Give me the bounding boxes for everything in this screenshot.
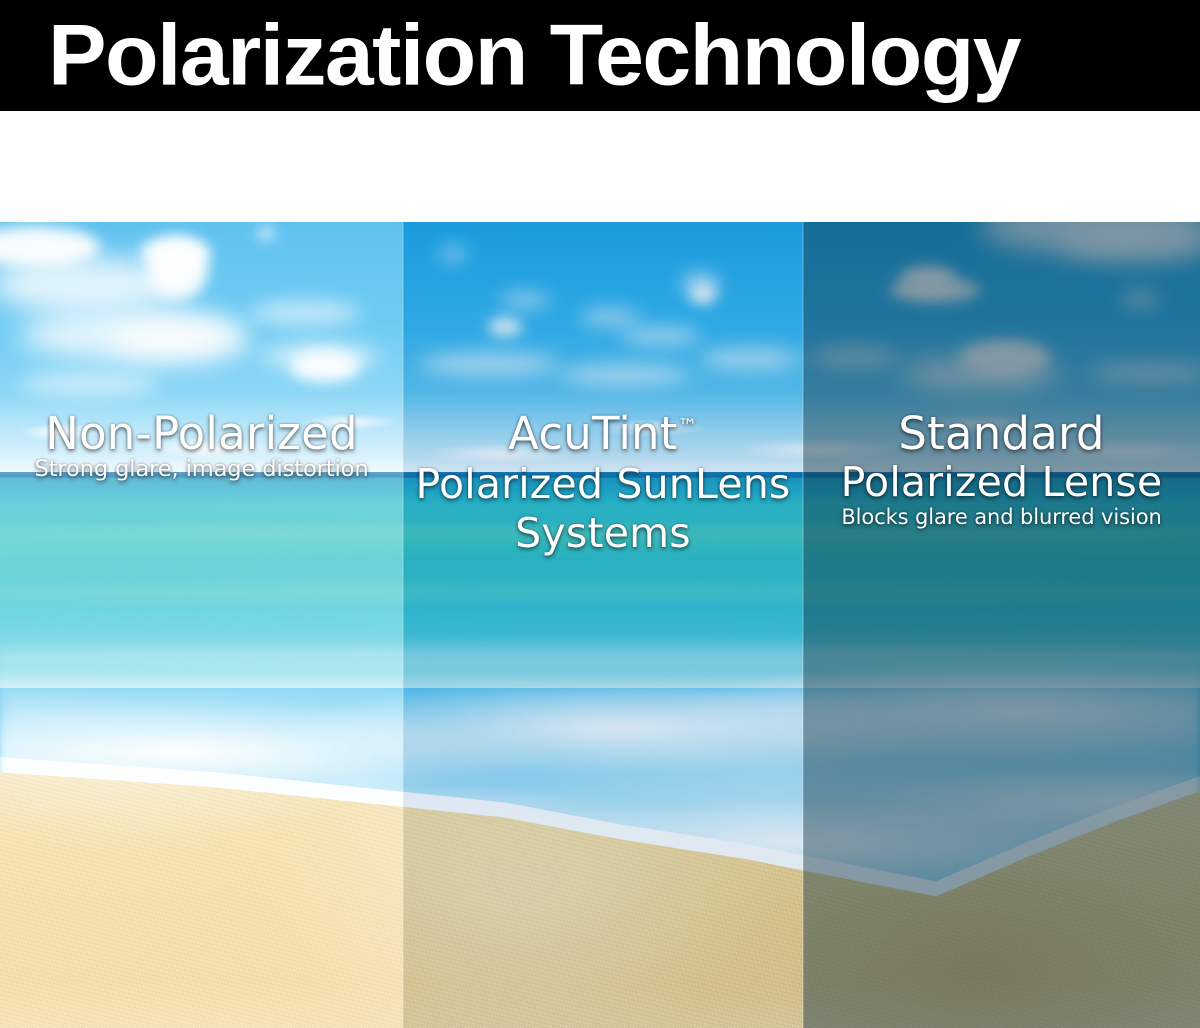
panel-2-subheading: Polarized SunLens — [403, 461, 803, 508]
panel-caption-standard: Standard Polarized Lense Blocks glare an… — [803, 408, 1200, 530]
cloud-shape — [110, 318, 250, 360]
cloud-shape — [700, 348, 800, 370]
cloud-shape — [580, 308, 640, 326]
panel-2-heading-text: AcuTint — [508, 407, 677, 460]
cloud-shape — [488, 318, 522, 336]
spacer-band — [0, 111, 1200, 222]
cloud-shape — [420, 352, 560, 376]
cloud-shape — [148, 242, 208, 300]
panel-caption-acutint: AcuTint™ Polarized SunLens Systems — [403, 408, 803, 557]
panel-2-heading: AcuTint™ — [403, 408, 803, 459]
title-banner: Polarization Technology — [0, 0, 1200, 111]
page-title-text: Polarization Technology — [48, 14, 1020, 97]
panel-caption-non-polarized: Non-Polarized Strong glare, image distor… — [0, 408, 403, 483]
panel-3-heading: Standard — [803, 408, 1200, 459]
cloud-shape — [690, 284, 716, 304]
panel-divider — [802, 222, 804, 1028]
panel-1-detail: Strong glare, image distortion — [0, 457, 403, 483]
trademark-symbol: ™ — [678, 414, 698, 438]
panel-divider — [402, 222, 404, 1028]
cloud-shape — [1120, 290, 1160, 308]
cloud-shape — [890, 278, 980, 302]
cloud-shape — [290, 350, 360, 382]
cloud-shape — [250, 300, 360, 326]
cloud-shape — [1090, 362, 1200, 384]
beach-scene — [0, 222, 1200, 1028]
page-title: Polarization Technology — [48, 14, 1001, 97]
panel-2-subheading-2: Systems — [403, 510, 803, 557]
wave-band — [0, 582, 1200, 602]
cloud-shape — [500, 292, 550, 308]
panel-1-heading: Non-Polarized — [0, 408, 403, 459]
cloud-shape — [440, 246, 466, 262]
cloud-shape — [560, 364, 690, 386]
polarization-comparison-image: Non-Polarized Strong glare, image distor… — [0, 222, 1200, 1028]
cloud-shape — [810, 346, 900, 368]
cloud-shape — [258, 228, 274, 239]
cloud-shape — [620, 326, 700, 346]
panel-3-subheading: Polarized Lense — [803, 459, 1200, 506]
cloud-shape — [900, 358, 1060, 390]
panel-3-detail: Blocks glare and blurred vision — [803, 506, 1200, 530]
